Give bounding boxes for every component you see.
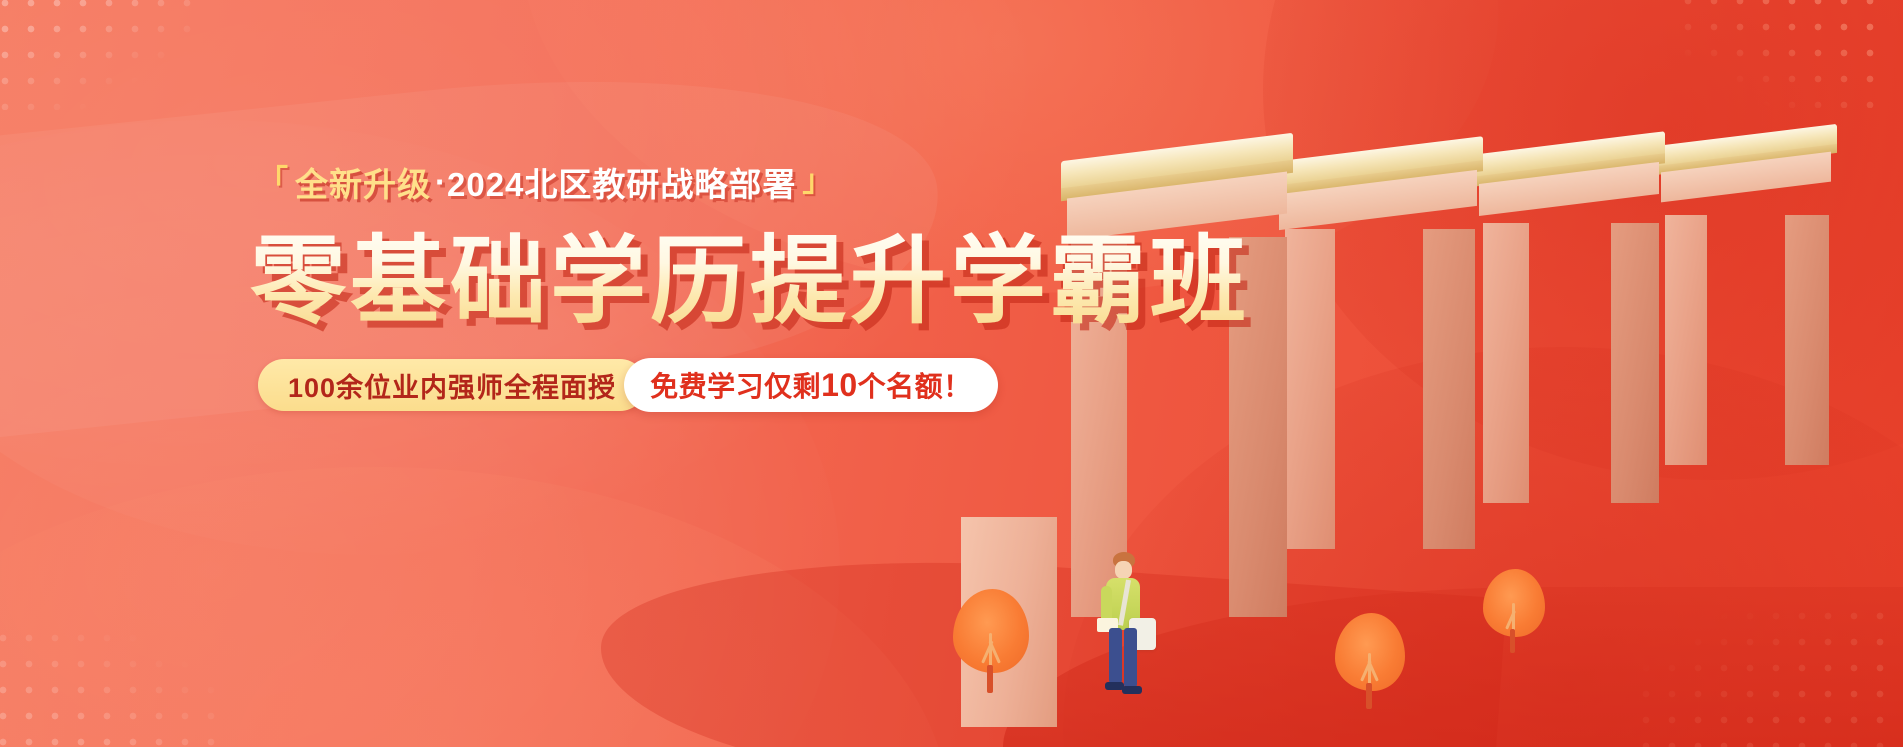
seats-prefix: 免费学习仅剩 — [650, 365, 821, 405]
feature-pill-instructors: 100余位业内强师全程面授 — [258, 359, 646, 411]
book-arch-4 — [1643, 135, 1843, 465]
feature-pill-seats-left: 免费学习仅剩 10 个名额！ — [624, 358, 998, 412]
bracket-close-icon: 」 — [802, 167, 833, 197]
seats-count: 10 — [821, 367, 858, 404]
subtitle-rest: 2024北区教研战略部署 — [447, 158, 796, 206]
promo-banner: 「 全新升级 · 2024北区教研战略部署 」 零基础学历提升学霸班 100余位… — [0, 0, 1903, 747]
tree-right-branch-a — [1512, 603, 1515, 631]
book-arch-2 — [1263, 149, 1493, 549]
subtitle-separator: · — [435, 163, 447, 201]
copy-block: 「 全新升级 · 2024北区教研战略部署 」 零基础学历提升学霸班 100余位… — [0, 0, 1100, 747]
page-title: 零基础学历提升学霸班 — [250, 228, 1250, 336]
dot-grid-bottom-right — [1633, 603, 1893, 747]
bracket-open-icon: 「 — [258, 167, 289, 197]
seats-suffix: 个名额！ — [858, 365, 972, 405]
book-arch-3 — [1463, 143, 1673, 503]
pill-row: 100余位业内强师全程面授 免费学习仅剩 10 个名额！ — [258, 358, 998, 412]
bg-wave-top-right — [1263, 0, 1903, 480]
dot-grid-top-right — [1675, 0, 1885, 108]
subtitle: 「 全新升级 · 2024北区教研战略部署 」 — [258, 158, 833, 206]
tree-right-trunk — [1510, 629, 1515, 653]
person-hair — [1113, 552, 1135, 568]
subtitle-highlight: 全新升级 — [291, 158, 435, 206]
tree-right-branch-b — [1505, 610, 1516, 629]
